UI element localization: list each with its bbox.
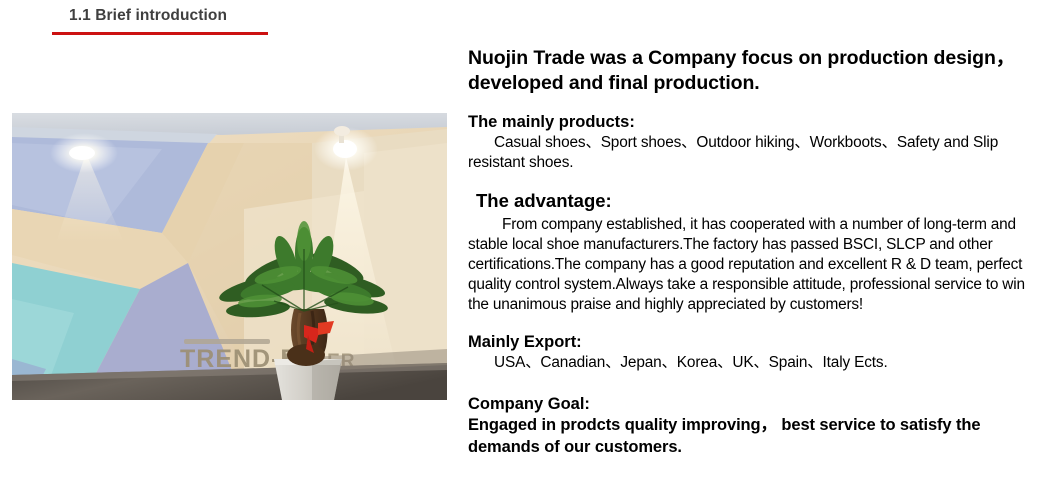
spacer <box>468 382 1034 393</box>
products-block: The mainly products: Casual shoes、Sport … <box>468 111 1034 173</box>
office-lobby-photo: TREND-B ENDER 潮流特步 <box>12 113 447 400</box>
lead-paragraph: Nuojin Trade was a Company focus on prod… <box>468 46 1034 95</box>
goal-body: Engaged in prodcts quality improving， be… <box>468 415 1034 459</box>
advantage-body: From company established, it has coopera… <box>468 215 1034 315</box>
lobby-illustration: TREND-B ENDER 潮流特步 <box>12 113 447 400</box>
section-title: 1.1 Brief introduction <box>52 4 472 27</box>
products-heading: The mainly products: <box>468 111 1034 133</box>
spacer <box>468 182 1034 189</box>
advantage-heading: The advantage: <box>468 189 1034 214</box>
spacer <box>468 324 1034 331</box>
export-block: Mainly Export: USA、Canadian、Jepan、Korea、… <box>468 331 1034 373</box>
export-body: USA、Canadian、Jepan、Korea、UK、Spain、Italy … <box>468 353 1034 373</box>
goal-block: Company Goal: Engaged in prodcts quality… <box>468 393 1034 459</box>
section-underline <box>52 32 268 35</box>
goal-heading: Company Goal: <box>468 393 1034 415</box>
products-body: Casual shoes、Sport shoes、Outdoor hiking、… <box>468 133 1034 173</box>
intro-content: Nuojin Trade was a Company focus on prod… <box>468 46 1034 468</box>
export-heading: Mainly Export: <box>468 331 1034 353</box>
advantage-block: The advantage: From company established,… <box>468 189 1034 315</box>
section-heading: 1.1 Brief introduction <box>52 4 472 35</box>
